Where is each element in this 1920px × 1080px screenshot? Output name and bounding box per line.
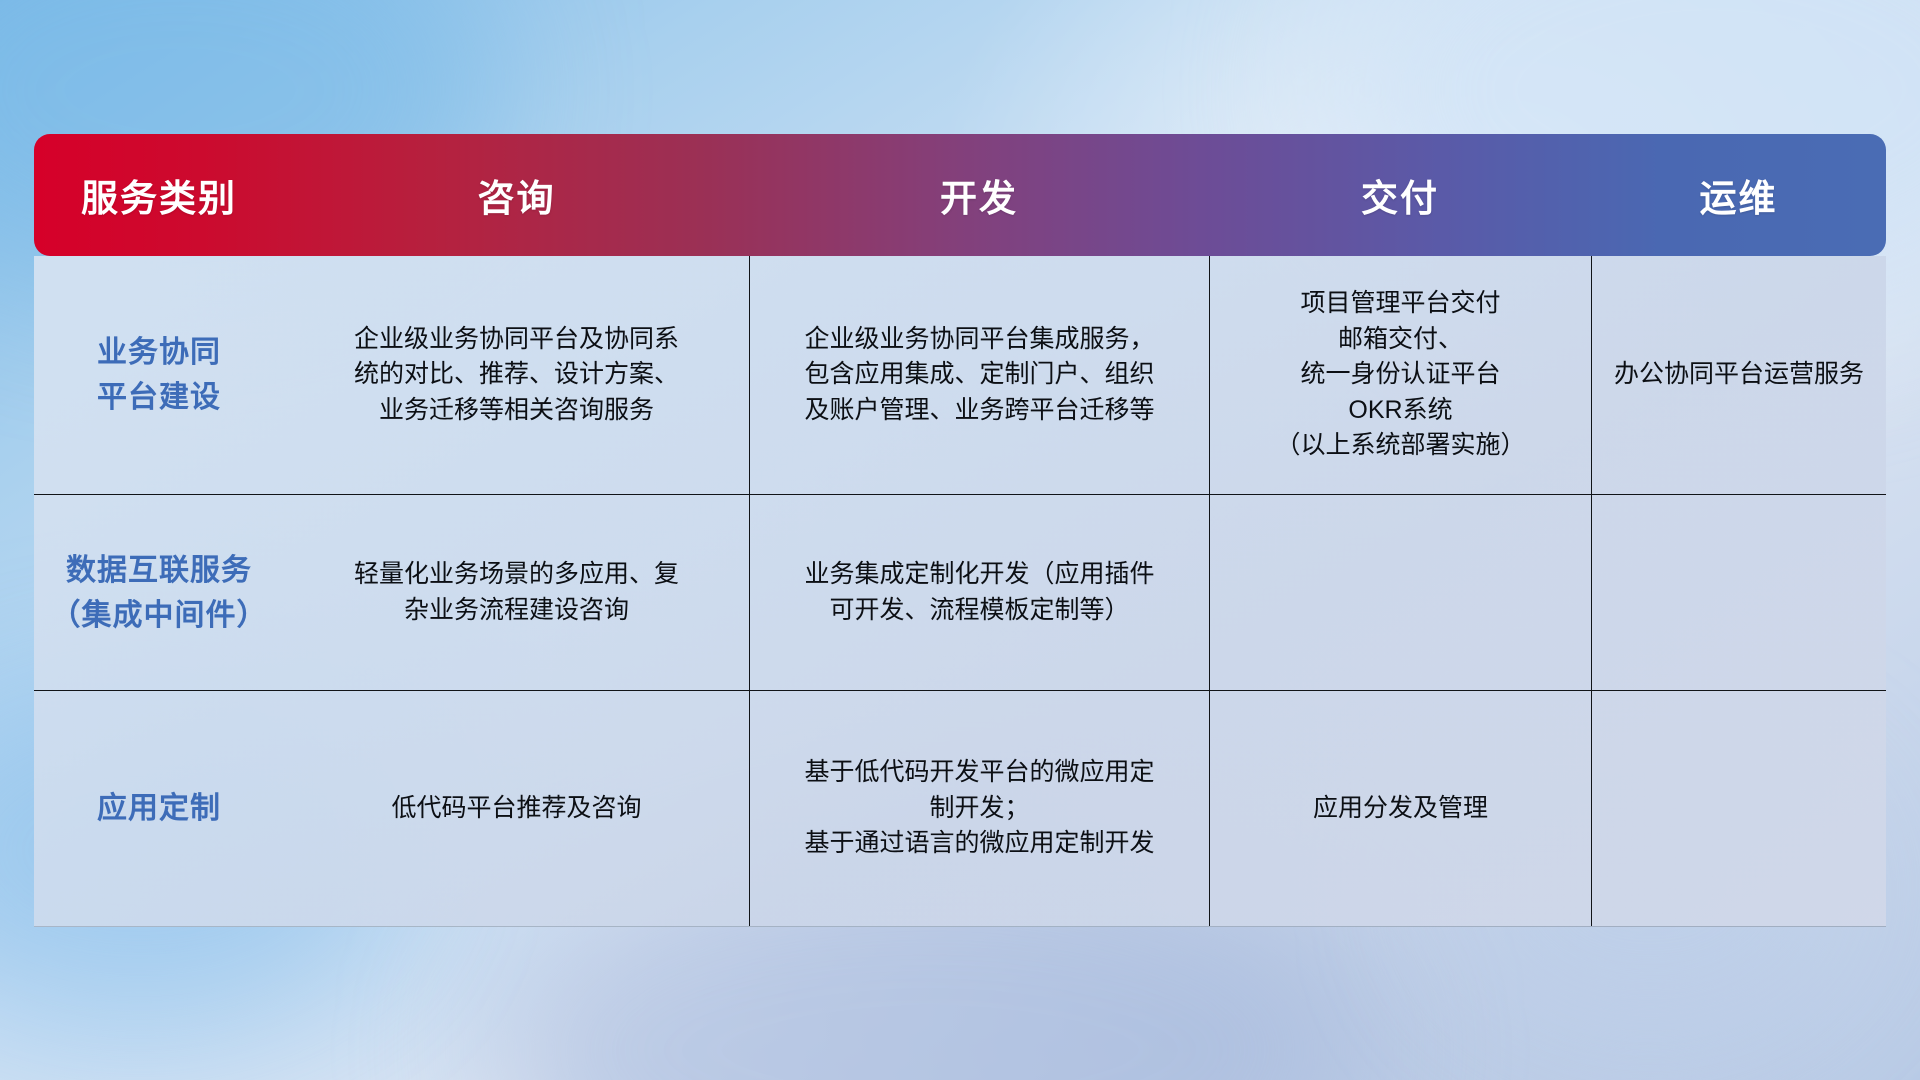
column-header-development: 开发 [749, 134, 1209, 256]
cell-consulting: 轻量化业务场景的多应用、复 杂业务流程建设咨询 [284, 495, 749, 690]
cell-consulting: 低代码平台推荐及咨询 [284, 691, 749, 926]
table-header-row: 服务类别 咨询 开发 交付 运维 [34, 134, 1886, 256]
row-label-data-interconnect: 数据互联服务 （集成中间件） [34, 495, 284, 690]
column-header-consulting: 咨询 [284, 134, 749, 256]
row-label-application-customization: 应用定制 [34, 691, 284, 926]
service-matrix-table: 服务类别 咨询 开发 交付 运维 业务协同 平台建设 企业级业务协同平台及协同系… [34, 134, 1886, 927]
cell-development: 业务集成定制化开发（应用插件 可开发、流程模板定制等） [749, 495, 1209, 690]
table-row: 数据互联服务 （集成中间件） 轻量化业务场景的多应用、复 杂业务流程建设咨询 业… [34, 494, 1886, 690]
cell-operations [1591, 495, 1886, 690]
row-label-business-collaboration: 业务协同 平台建设 [34, 256, 284, 494]
cell-development: 基于低代码开发平台的微应用定 制开发； 基于通过语言的微应用定制开发 [749, 691, 1209, 926]
column-header-operations: 运维 [1591, 134, 1886, 256]
table-body: 业务协同 平台建设 企业级业务协同平台及协同系 统的对比、推荐、设计方案、 业务… [34, 256, 1886, 927]
cell-development: 企业级业务协同平台集成服务， 包含应用集成、定制门户、组织 及账户管理、业务跨平… [749, 256, 1209, 494]
cell-delivery: 应用分发及管理 [1209, 691, 1591, 926]
cell-delivery: 项目管理平台交付 邮箱交付、 统一身份认证平台 OKR系统 （以上系统部署实施） [1209, 256, 1591, 494]
column-header-label: 交付 [1361, 168, 1439, 222]
cell-operations: 办公协同平台运营服务 [1591, 256, 1886, 494]
column-header-label: 服务类别 [81, 168, 237, 222]
cell-delivery [1209, 495, 1591, 690]
cell-consulting: 企业级业务协同平台及协同系 统的对比、推荐、设计方案、 业务迁移等相关咨询服务 [284, 256, 749, 494]
column-header-category: 服务类别 [34, 134, 284, 256]
column-header-label: 开发 [940, 168, 1018, 222]
cell-operations [1591, 691, 1886, 926]
column-header-label: 咨询 [478, 168, 556, 222]
table-row: 应用定制 低代码平台推荐及咨询 基于低代码开发平台的微应用定 制开发； 基于通过… [34, 690, 1886, 926]
slide-canvas: 服务类别 咨询 开发 交付 运维 业务协同 平台建设 企业级业务协同平台及协同系… [0, 0, 1920, 1080]
table-row: 业务协同 平台建设 企业级业务协同平台及协同系 统的对比、推荐、设计方案、 业务… [34, 256, 1886, 494]
column-header-label: 运维 [1700, 168, 1778, 222]
column-header-delivery: 交付 [1209, 134, 1591, 256]
